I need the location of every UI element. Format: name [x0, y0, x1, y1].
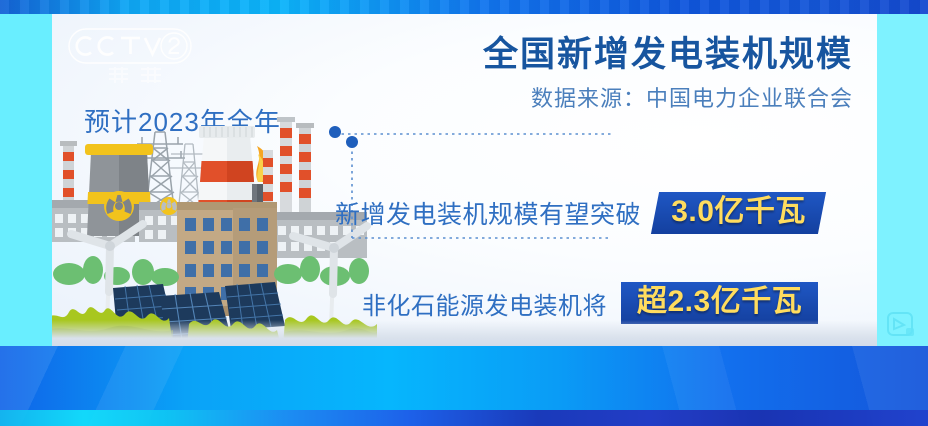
content-canvas: 全国新增发电装机规模 数据来源：中国电力企业联合会 预计2023年全年: [52, 14, 877, 346]
stat-row-2: 非化石能源发电装机将 超2.3亿千瓦: [362, 282, 818, 324]
bottom-color-band: [0, 346, 928, 426]
radiation-symbol-small: [160, 197, 178, 215]
radiation-symbol: [104, 191, 134, 221]
page-title: 全国新增发电装机规模: [483, 34, 853, 75]
grass-shadow: [52, 326, 377, 346]
stat-value-2: 超2.3亿千瓦: [637, 285, 802, 318]
left-cyan-rail: [0, 14, 52, 346]
stat-value-badge-2: 超2.3亿千瓦: [621, 282, 818, 324]
stat-value-1: 3.0亿千瓦: [671, 197, 806, 227]
solar-panel-right: [225, 282, 285, 330]
right-cyan-rail: [877, 14, 928, 346]
stat-value-badge-1: 3.0亿千瓦: [651, 192, 826, 234]
data-source-label: 数据来源：中国电力企业联合会: [483, 81, 853, 113]
news-graphic-stage: 全国新增发电装机规模 数据来源：中国电力企业联合会 预计2023年全年: [0, 0, 928, 426]
cctv2-finance-logo: [61, 23, 207, 89]
title-block: 全国新增发电装机规模 数据来源：中国电力企业联合会: [483, 34, 853, 113]
top-color-band: [0, 0, 928, 14]
power-generation-illustration: [52, 96, 377, 346]
stat-label-1: 新增发电装机规模有望突破: [335, 195, 641, 231]
stat-row-1: 新增发电装机规模有望突破 3.0亿千瓦: [335, 192, 822, 234]
stat-label-2: 非化石能源发电装机将: [362, 286, 607, 321]
